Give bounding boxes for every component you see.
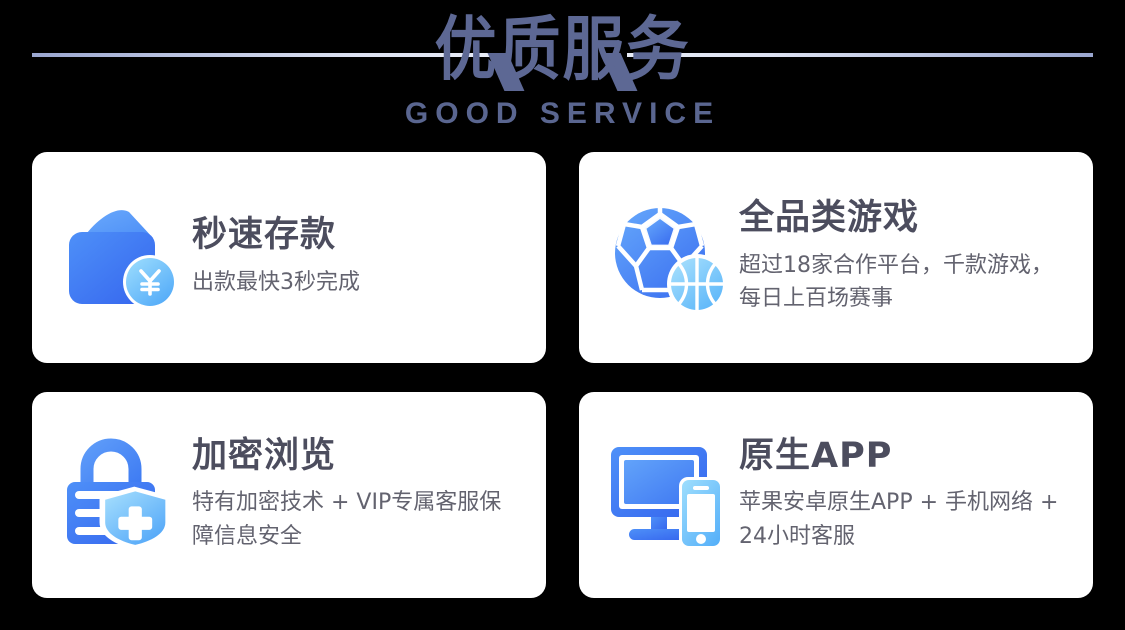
lock-shield-icon	[58, 433, 182, 557]
card-description: 特有加密技术 + VIP专属客服保障信息安全	[192, 486, 510, 553]
page-header: 优质服务 GOOD SERVICE	[0, 0, 1125, 148]
card-text-block: 全品类游戏 超过18家合作平台，千款游戏，每日上百场赛事	[739, 199, 1083, 315]
feature-card-games[interactable]: 全品类游戏 超过18家合作平台，千款游戏，每日上百场赛事	[579, 152, 1093, 363]
card-text-block: 秒速存款 出款最快3秒完成	[192, 216, 374, 299]
header-title-block: 优质服务 GOOD SERVICE	[0, 0, 1125, 131]
soccer-basketball-icon	[605, 196, 729, 320]
wallet-icon	[58, 196, 182, 320]
page-subtitle: GOOD SERVICE	[405, 97, 720, 131]
feature-card-encryption[interactable]: 加密浏览 特有加密技术 + VIP专属客服保障信息安全	[32, 392, 546, 598]
card-description: 苹果安卓原生APP + 手机网络 + 24小时客服	[739, 486, 1069, 553]
card-text-block: 原生APP 苹果安卓原生APP + 手机网络 + 24小时客服	[739, 437, 1083, 553]
page-title: 优质服务	[434, 8, 690, 90]
card-title: 全品类游戏	[739, 199, 1069, 238]
feature-card-deposit[interactable]: 秒速存款 出款最快3秒完成	[32, 152, 546, 363]
card-description: 超过18家合作平台，千款游戏，每日上百场赛事	[739, 249, 1069, 316]
card-title: 秒速存款	[192, 216, 360, 255]
feature-card-native-app[interactable]: 原生APP 苹果安卓原生APP + 手机网络 + 24小时客服	[579, 392, 1093, 598]
card-title: 原生APP	[739, 437, 1069, 476]
card-title: 加密浏览	[192, 437, 510, 476]
card-text-block: 加密浏览 特有加密技术 + VIP专属客服保障信息安全	[192, 437, 524, 553]
card-description: 出款最快3秒完成	[192, 266, 360, 299]
monitor-phone-icon	[605, 433, 729, 557]
feature-card-grid: 秒速存款 出款最快3秒完成	[32, 152, 1093, 598]
